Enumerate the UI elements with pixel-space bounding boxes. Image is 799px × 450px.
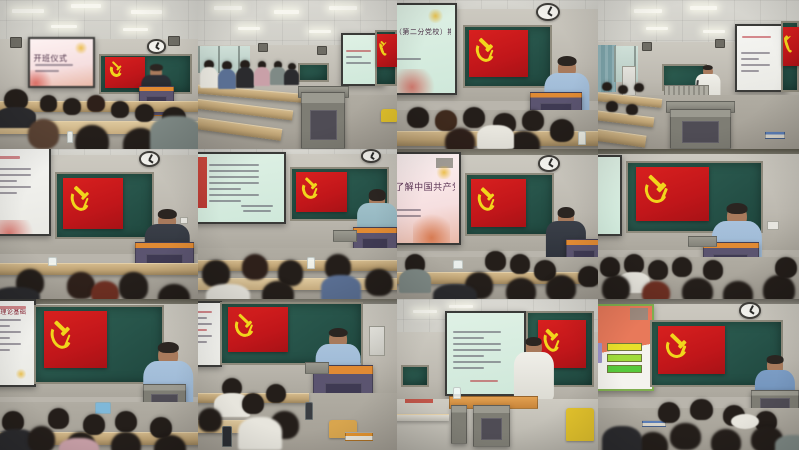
party-flag [377, 34, 397, 67]
standing-student [254, 67, 270, 86]
projection-screen [198, 301, 222, 367]
audience-head [40, 95, 58, 111]
hammer-sickle-emblem [233, 314, 258, 342]
audience-head [723, 281, 753, 299]
audience-head [618, 85, 628, 94]
hammer-sickle-emblem [664, 334, 692, 364]
ceiling-light [214, 6, 242, 10]
ceiling-light [634, 9, 662, 13]
collage-photo-2[interactable] [198, 0, 397, 149]
slide-title: 了解中国共产党 [397, 181, 455, 195]
water-bottle [453, 260, 463, 269]
wall-speaker [317, 46, 327, 55]
audience-hat [731, 414, 759, 429]
collage-photo-5[interactable] [0, 149, 198, 299]
audience-head [658, 402, 680, 423]
wall-speaker [258, 43, 268, 52]
hammer-sickle-emblem [108, 62, 125, 81]
audience-head [775, 257, 797, 278]
podium [301, 92, 345, 149]
wall-clock [139, 151, 161, 168]
collage-photo-6[interactable] [198, 149, 397, 299]
ceiling-light [131, 10, 163, 14]
audience-shoulder [399, 269, 431, 293]
audience-head [242, 393, 264, 414]
party-flag [296, 172, 348, 213]
audience-shoulder [433, 284, 477, 299]
party-flag [783, 27, 799, 66]
collage-photo-9[interactable]: 理论基础 [0, 299, 198, 450]
audience-head [703, 260, 723, 280]
audience-shoulder [0, 287, 40, 299]
audience-head [672, 257, 692, 277]
audience-head [198, 408, 222, 432]
water-bottle [67, 131, 73, 143]
audience-head [602, 82, 612, 91]
wall-clock [739, 302, 761, 319]
lectern-console [333, 230, 357, 242]
projection-screen [198, 152, 286, 224]
audience-head [115, 411, 137, 432]
water-bottle [453, 387, 461, 399]
audience-head [624, 254, 644, 274]
audience-head [670, 423, 700, 450]
stacked-books [345, 432, 373, 441]
water-bottle [95, 402, 111, 414]
audience-head [602, 275, 630, 299]
audience-head [28, 119, 60, 149]
blackboard [298, 63, 330, 82]
speaker-figure [727, 205, 747, 223]
audience-head [463, 107, 485, 128]
wall-clock [147, 39, 167, 54]
podium-side [451, 405, 467, 444]
audience-head [242, 254, 268, 280]
lectern-console [305, 362, 329, 374]
audience-head [690, 399, 712, 420]
ceiling-light [123, 28, 149, 31]
projection-screen: 开班仪式 [28, 37, 95, 88]
audience-head [578, 266, 598, 287]
audience-head [91, 281, 119, 299]
hammer-sickle-emblem [476, 187, 499, 217]
audience-head [83, 414, 105, 435]
party-flag [469, 30, 527, 78]
audience-shoulder [775, 435, 799, 450]
audience-head [711, 429, 741, 450]
distant-blackboard [401, 365, 429, 386]
audience-head [202, 260, 230, 287]
thermos-bottle [305, 402, 313, 420]
ceiling-light [646, 27, 668, 30]
speaker-figure [369, 191, 385, 205]
ceiling-light [690, 6, 716, 10]
slide-diagram [607, 343, 642, 376]
chair [381, 109, 397, 122]
speaker-figure [150, 66, 162, 76]
lectern-console [688, 236, 716, 247]
audience-head [763, 275, 795, 299]
audience-shoulder [150, 116, 198, 149]
audience-head [522, 110, 544, 131]
wall-clock [536, 3, 560, 21]
speaker-figure [329, 329, 347, 346]
audience-head [63, 98, 81, 114]
audience-head [510, 254, 530, 274]
audience-head [111, 432, 141, 450]
party-flag [636, 167, 708, 221]
ceiling-light [51, 25, 77, 28]
audience-head [365, 269, 393, 296]
audience-head [28, 426, 56, 450]
audience-head [606, 101, 618, 111]
projection-screen [598, 304, 654, 392]
party-flag [228, 307, 288, 352]
audience-shoulder [602, 426, 642, 450]
ceiling-light [329, 6, 357, 10]
standing-student [236, 67, 254, 88]
hammer-sickle-emblem [68, 186, 93, 218]
party-flag [471, 179, 525, 227]
audience-head [75, 125, 109, 149]
chair [566, 408, 594, 441]
audience-head [682, 278, 712, 299]
slide-title: 理论基础 [0, 309, 30, 318]
collage-photo-4[interactable] [598, 0, 799, 149]
standing-student [284, 69, 300, 85]
hammer-sickle-emblem [474, 37, 498, 67]
water-bottle [307, 257, 315, 269]
collage-photo-10[interactable] [198, 299, 397, 450]
hammer-sickle-emblem [379, 40, 387, 60]
hammer-sickle-emblem [784, 33, 791, 57]
party-flag [63, 178, 122, 229]
speaker-figure [558, 58, 576, 74]
collage-photo-11[interactable] [397, 299, 598, 450]
party-flag [658, 326, 724, 374]
audience-shoulder [477, 125, 513, 149]
audience-head [445, 128, 475, 149]
water-bottle [578, 131, 586, 144]
front-desk-edge [397, 414, 449, 422]
collage-photo-3[interactable]: （第二分党校）期开班仪式 [397, 0, 598, 149]
ceiling-light [238, 27, 260, 30]
podium [473, 405, 509, 447]
audience-head [111, 101, 129, 117]
wall-outlet [180, 217, 188, 225]
projection-screen [0, 149, 51, 236]
standing-student [218, 69, 236, 90]
collage-photo-7[interactable]: 了解中国共产党 [397, 149, 598, 299]
hammer-sickle-emblem [642, 176, 672, 209]
speaker-figure [526, 338, 542, 353]
wall-cabinet [369, 326, 385, 356]
audience-shoulder [206, 284, 250, 299]
party-flag [105, 57, 145, 88]
audience-shoulder [59, 438, 99, 450]
ceiling-light [309, 30, 331, 33]
audience-head [648, 260, 668, 280]
audience-head [119, 272, 149, 299]
ceiling-light [274, 10, 300, 14]
speaker-figure [158, 211, 176, 226]
podium [670, 109, 730, 149]
audience-head [546, 275, 576, 299]
ceiling-light [71, 4, 101, 8]
hammer-sickle-emblem [49, 320, 76, 356]
wall-speaker [715, 39, 725, 48]
photo-collage: 开班仪式 [0, 0, 799, 450]
collage-photo-1[interactable]: 开班仪式 [0, 0, 198, 149]
ceiling-light [413, 310, 437, 313]
collage-photo-12[interactable] [598, 299, 799, 450]
audience-shoulder [321, 275, 361, 299]
ceiling-light [449, 305, 473, 308]
standing-student [200, 67, 218, 88]
audience-head [600, 257, 620, 277]
audience-head [48, 408, 70, 429]
wall-clock [538, 155, 560, 172]
projection-screen: 理论基础 [0, 299, 36, 387]
wall-speaker [168, 36, 180, 46]
audience-head [266, 384, 286, 404]
wall-outlet [767, 221, 779, 230]
audience-shoulder [238, 417, 282, 450]
wall-speaker [642, 42, 652, 51]
audience-head [87, 95, 105, 111]
projection-screen: （第二分党校）期开班仪式 [397, 3, 457, 95]
audience-head [135, 104, 155, 122]
audience-head [550, 119, 574, 141]
thermos-bottle [222, 426, 232, 447]
stacked-books [765, 131, 785, 138]
ceiling-light [12, 9, 44, 13]
slide-title: （第二分党校）期开班仪式 [397, 28, 451, 39]
collage-photo-8[interactable] [598, 149, 799, 299]
projection-screen [598, 155, 622, 236]
audience-head [485, 251, 505, 271]
audience-head [407, 107, 429, 128]
floor-marking [405, 399, 433, 404]
projection-screen: 了解中国共产党 [397, 152, 461, 245]
audience-head [262, 281, 294, 299]
audience-head [506, 278, 536, 299]
speaker-figure [703, 66, 713, 75]
speaker-figure [158, 344, 178, 362]
wall-speaker [10, 37, 22, 47]
speaker-figure [767, 356, 783, 371]
wall-clock [361, 149, 381, 163]
audience-head [626, 104, 638, 114]
party-flag [44, 311, 107, 368]
hammer-sickle-emblem [300, 178, 322, 203]
water-bottle [48, 257, 58, 266]
speaker-figure [558, 209, 574, 223]
projection-screen [735, 24, 787, 93]
ceiling-light [703, 30, 725, 33]
